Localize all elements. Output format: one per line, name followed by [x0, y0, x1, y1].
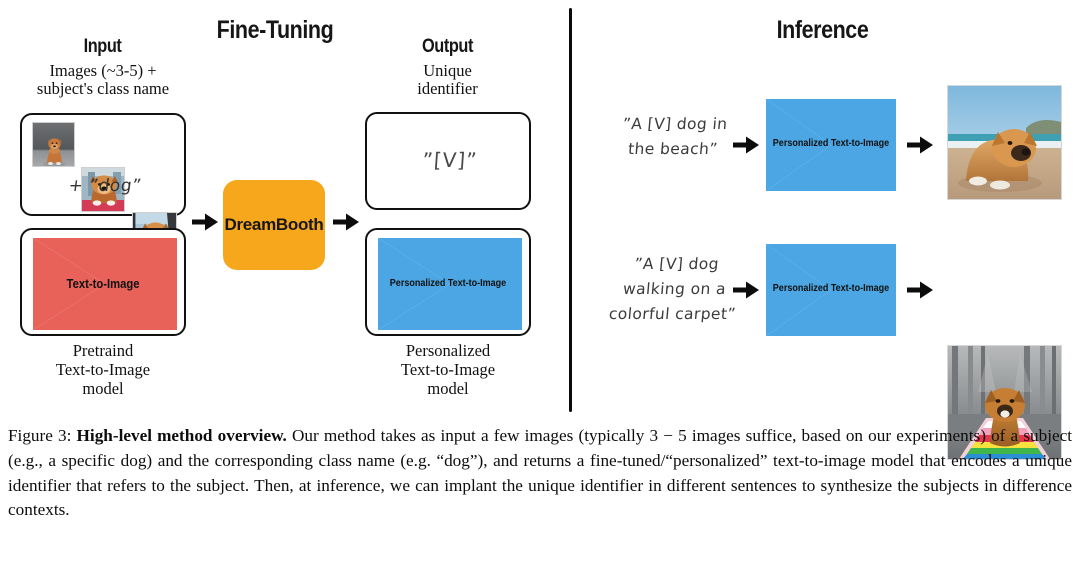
dreambooth-box[interactable]: DreamBooth	[223, 180, 325, 270]
class-name-token: + ”dog”	[21, 176, 190, 196]
caption-bold-title: High-level method overview.	[77, 426, 287, 445]
input-subtitle-line1: Images (~3-5) +	[8, 62, 198, 80]
personalized-caption-line3: model	[365, 380, 531, 398]
inference-prompt-1: ”A [V] dog in the beach”	[598, 112, 750, 162]
arrow-into-dreambooth	[192, 213, 218, 231]
panel-divider	[569, 8, 572, 412]
inference-prompt-1-line-1: ”A [V] dog in	[600, 112, 750, 137]
personalized-caption-line1: Personalized	[365, 342, 531, 360]
pretrained-caption-line1: Pretraind	[20, 342, 186, 360]
inference-prompt-2-line-3: colorful carpet”	[589, 302, 756, 327]
arrow-out-of-dreambooth	[333, 213, 359, 231]
personalized-model-panel: Personalized Text-to-Image	[365, 228, 531, 336]
output-heading: Output	[377, 36, 519, 58]
personalized-bowtie-label: Personalized Text-to-Image	[375, 278, 521, 289]
output-subtitle-line1: Unique	[365, 62, 530, 80]
inference-title: Inference	[730, 16, 915, 45]
arrow-model-to-result-1	[907, 136, 933, 154]
unique-identifier-value: ”[V]”	[366, 148, 534, 172]
thumbnail-dog-photo-standing	[32, 122, 75, 167]
pretrained-model-panel: Text-to-Image	[20, 228, 186, 336]
arrow-prompt-to-model-2	[733, 281, 759, 299]
input-subtitle-line2: subject's class name	[8, 80, 198, 98]
inference-model-1-label: Personalized Text-to-Image	[773, 138, 890, 149]
input-heading: Input	[32, 36, 174, 58]
personalized-caption-line2: Text-to-Image	[365, 361, 531, 379]
inference-prompt-1-line-2: the beach”	[598, 137, 748, 162]
figure-caption: Figure 3: High-level method overview. Ou…	[0, 424, 1080, 523]
pretrained-caption-line2: Text-to-Image	[20, 361, 186, 379]
unique-identifier-panel: ”[V]”	[365, 112, 531, 210]
input-images-panel: + ”dog”	[20, 113, 186, 216]
inference-prompt-2-line-1: ”A [V] dog	[593, 252, 760, 277]
pretrained-caption-line3: model	[20, 380, 186, 398]
output-subtitle-line2: identifier	[365, 80, 530, 98]
arrow-model-to-result-2	[907, 281, 933, 299]
caption-label: Figure 3:	[8, 426, 71, 445]
figure-diagram: Fine-Tuning Input Images (~3-5) + subjec…	[0, 0, 1080, 420]
pretrained-bowtie-label: Text-to-Image	[30, 277, 176, 291]
fine-tuning-title: Fine-Tuning	[198, 16, 353, 45]
inference-model-2-label: Personalized Text-to-Image	[773, 283, 890, 294]
inference-model-2: Personalized Text-to-Image	[766, 244, 896, 336]
inference-model-1: Personalized Text-to-Image	[766, 99, 896, 191]
result-dog-on-beach	[947, 85, 1062, 200]
arrow-prompt-to-model-1	[733, 136, 759, 154]
